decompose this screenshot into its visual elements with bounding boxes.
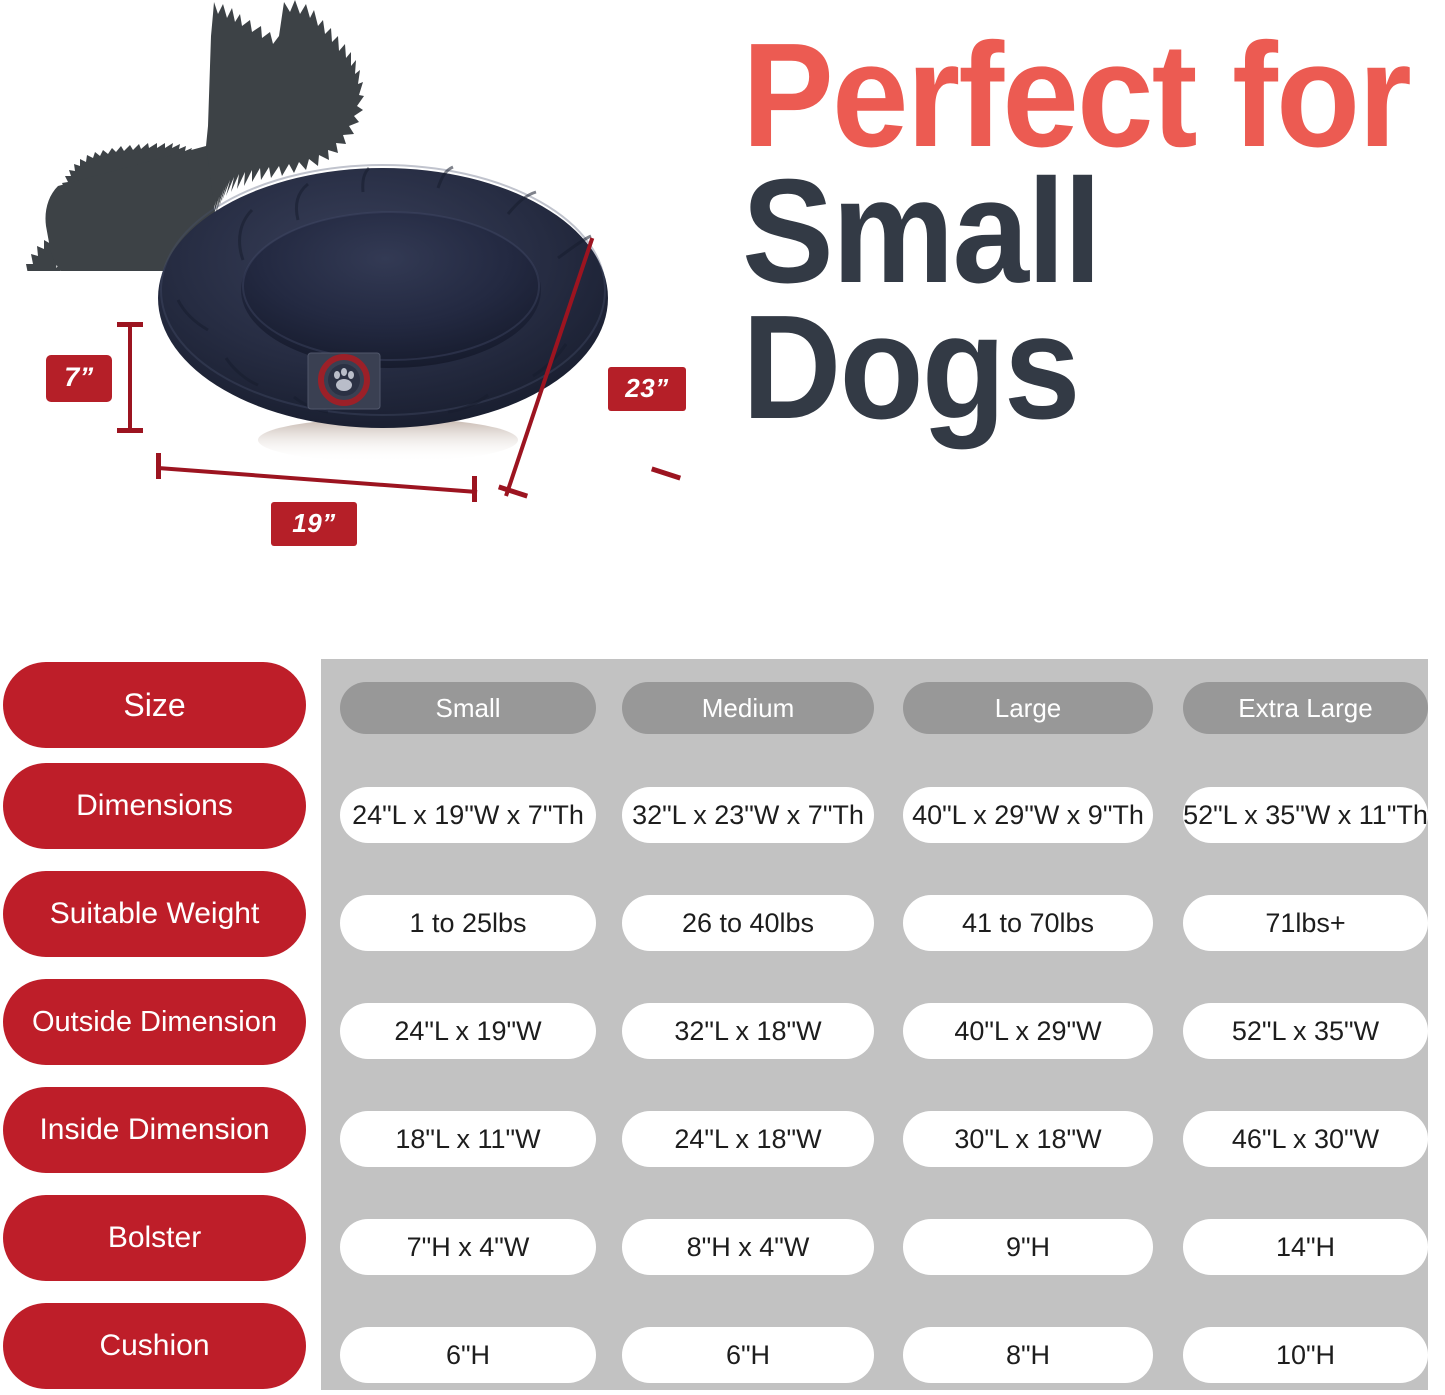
spec-value-cell: 52"L x 35"W x 11"Th xyxy=(1183,787,1428,843)
spec-value-cell: 24"L x 19"W xyxy=(340,1003,596,1059)
spec-value-cell: 10"H xyxy=(1183,1327,1428,1383)
headline-line-1: Perfect for xyxy=(742,28,1393,164)
spec-value-cell: 24"L x 19"W x 7"Th xyxy=(340,787,596,843)
spec-value-cell: 30"L x 18"W xyxy=(903,1111,1153,1167)
spec-row-label: Dimensions xyxy=(3,763,306,849)
spec-value-cell: 1 to 25lbs xyxy=(340,895,596,951)
length-guide-cap-top xyxy=(651,466,681,480)
height-guide-cap-top xyxy=(117,322,143,327)
length-guide-cap-bottom xyxy=(498,484,528,498)
spec-value-cell: 6"H xyxy=(340,1327,596,1383)
headline-line-3: Dogs xyxy=(742,300,1393,436)
spec-value-cell: 8"H xyxy=(903,1327,1153,1383)
spec-value-cell: 52"L x 35"W xyxy=(1183,1003,1428,1059)
hero-section: 7” 19” 23” Perfect for Small Dogs xyxy=(0,0,1445,640)
width-dimension-badge: 19” xyxy=(271,502,357,546)
height-guide-cap-bottom xyxy=(117,428,143,433)
headline-line-2: Small xyxy=(742,164,1393,300)
spec-row-label: Cushion xyxy=(3,1303,306,1389)
spec-row-label: Suitable Weight xyxy=(3,871,306,957)
length-guide-line xyxy=(504,237,594,496)
spec-value-cell: 40"L x 29"W x 9"Th xyxy=(903,787,1153,843)
spec-value-cell: 7"H x 4"W xyxy=(340,1219,596,1275)
spec-column-header: Medium xyxy=(622,682,874,734)
spec-value-cell: 18"L x 11"W xyxy=(340,1111,596,1167)
spec-column-header: Small xyxy=(340,682,596,734)
spec-value-cell: 32"L x 18"W xyxy=(622,1003,874,1059)
spec-value-cell: 14"H xyxy=(1183,1219,1428,1275)
spec-column-header: Extra Large xyxy=(1183,682,1428,734)
height-dimension-badge: 7” xyxy=(46,355,112,402)
width-guide-line xyxy=(158,466,477,494)
spec-value-cell: 40"L x 29"W xyxy=(903,1003,1153,1059)
spec-value-cell: 41 to 70lbs xyxy=(903,895,1153,951)
height-guide-line xyxy=(128,322,132,433)
spec-value-cell: 46"L x 30"W xyxy=(1183,1111,1428,1167)
spec-value-cell: 71lbs+ xyxy=(1183,895,1428,951)
spec-row-label: Size xyxy=(3,662,306,748)
spec-value-cell: 9"H xyxy=(903,1219,1153,1275)
width-guide-cap-right xyxy=(472,476,477,502)
brand-tag xyxy=(308,353,380,409)
spec-value-cell: 24"L x 18"W xyxy=(622,1111,874,1167)
spec-column-header: Large xyxy=(903,682,1153,734)
spec-value-cell: 26 to 40lbs xyxy=(622,895,874,951)
headline: Perfect for Small Dogs xyxy=(742,28,1442,436)
width-guide-cap-left xyxy=(156,453,161,479)
length-dimension-badge: 23” xyxy=(608,367,686,411)
spec-value-cell: 6"H xyxy=(622,1327,874,1383)
spec-row-label: Bolster xyxy=(3,1195,306,1281)
width-guide xyxy=(150,452,480,502)
spec-row-label: Inside Dimension xyxy=(3,1087,306,1173)
specification-table: SizeDimensionsSuitable WeightOutside Dim… xyxy=(0,659,1445,1395)
spec-row-label: Outside Dimension xyxy=(3,979,306,1065)
spec-row-label-column: SizeDimensionsSuitable WeightOutside Dim… xyxy=(3,659,306,1390)
spec-value-cell: 8"H x 4"W xyxy=(622,1219,874,1275)
spec-value-cell: 32"L x 23"W x 7"Th xyxy=(622,787,874,843)
